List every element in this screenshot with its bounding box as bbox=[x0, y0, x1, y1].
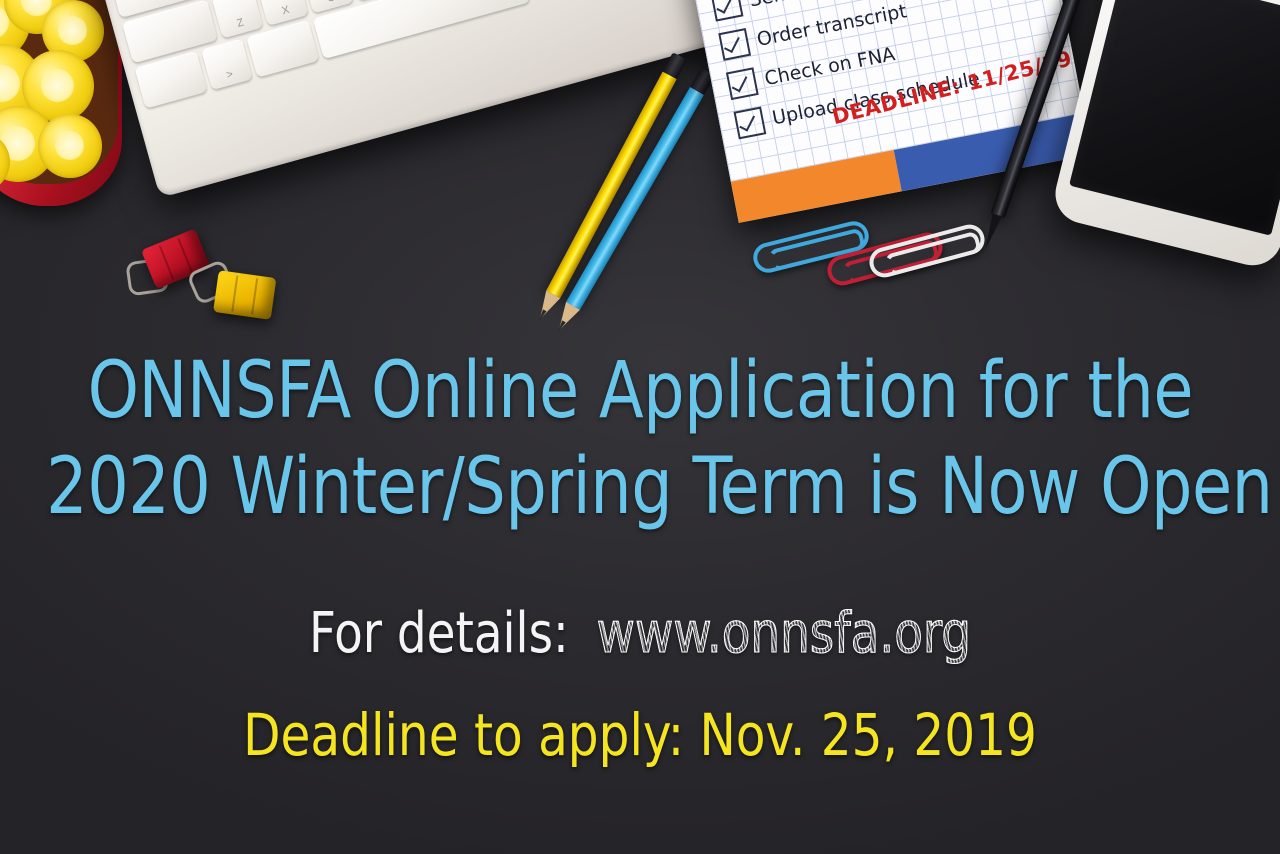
details-prefix: For details: bbox=[309, 601, 569, 666]
binder-clip-body bbox=[213, 270, 276, 320]
flower-bloom bbox=[38, 114, 102, 178]
binder-clip-yellow bbox=[202, 257, 288, 329]
website-url[interactable]: www.onnsfa.org bbox=[584, 601, 971, 666]
paper-clip-white bbox=[866, 221, 988, 281]
checkbox-checked-icon bbox=[726, 67, 759, 100]
pencil-blue bbox=[551, 68, 715, 336]
pencil-shaft bbox=[566, 87, 704, 310]
deadline-line: Deadline to apply: Nov. 25, 2019 bbox=[45, 706, 1235, 764]
checkbox-checked-icon bbox=[734, 107, 767, 140]
details-line: For details: www.onnsfa.org bbox=[45, 606, 1235, 662]
pencil-shaft bbox=[546, 72, 677, 298]
flower-pot bbox=[0, 0, 122, 206]
phone-screen bbox=[1069, 0, 1280, 236]
announcement-text: ONNSFA Online Application for the 2020 W… bbox=[0, 352, 1280, 764]
headline-line-2: 2020 Winter/Spring Term is Now Open bbox=[46, 448, 1272, 526]
checkbox-checked-icon bbox=[711, 0, 744, 22]
headline-line-1: ONNSFA Online Application for the bbox=[87, 352, 1192, 430]
smartphone bbox=[1049, 0, 1280, 272]
checkbox-checked-icon bbox=[718, 28, 751, 61]
poster-canvas: 2 3 4 5 6 7 8 9 0 Q W E R T Y U I A S D … bbox=[0, 0, 1280, 854]
key: Z bbox=[212, 0, 264, 38]
spacebar-key bbox=[313, 0, 530, 59]
pencil-yellow bbox=[532, 52, 687, 324]
key: > bbox=[201, 38, 253, 90]
